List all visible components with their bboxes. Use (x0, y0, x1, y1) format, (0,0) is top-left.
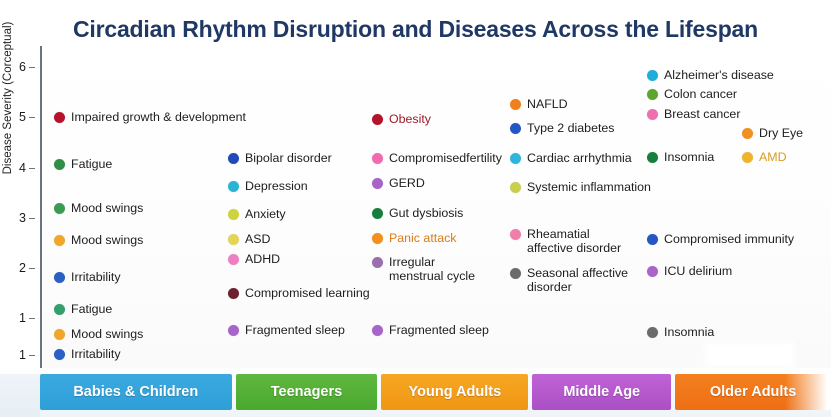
data-point-dot (372, 178, 383, 189)
data-point[interactable]: Panic attack (372, 231, 457, 245)
y-axis-tick-mark (29, 355, 35, 356)
category-band-older-adults[interactable]: Older Adults (675, 374, 831, 410)
image-artifact (705, 342, 795, 368)
data-point-dot (372, 208, 383, 219)
data-point[interactable]: Irregular menstrual cycle (372, 255, 484, 284)
data-point-dot (228, 209, 239, 220)
data-point-dot (510, 153, 521, 164)
data-point-dot (510, 99, 521, 110)
data-point[interactable]: Breast cancer (647, 107, 740, 121)
y-axis-tick: 2 (0, 261, 40, 275)
data-point-label: ICU delirium (664, 264, 732, 278)
data-point-dot (742, 152, 753, 163)
data-point[interactable]: Cardiac arrhythmia (510, 151, 632, 165)
data-point-dot (372, 153, 383, 164)
data-point[interactable]: Irritability (54, 347, 121, 361)
data-point-label: Fragmented sleep (245, 323, 345, 337)
data-point-dot (54, 235, 65, 246)
category-band-middle-age[interactable]: Middle Age (532, 374, 671, 410)
y-axis-tick-mark (29, 168, 35, 169)
data-point-dot (510, 268, 521, 279)
y-axis-tick-mark (29, 268, 35, 269)
data-point-label: Bipolar disorder (245, 151, 332, 165)
data-point-dot (647, 89, 658, 100)
data-point-dot (228, 254, 239, 265)
data-point[interactable]: Mood swings (54, 233, 143, 247)
data-point[interactable]: Alzheimer's disease (647, 68, 774, 82)
data-point-label: AMD (759, 150, 787, 164)
data-point[interactable]: Compromised immunity (647, 232, 794, 246)
data-point-label: ADHD (245, 252, 280, 266)
data-point-label: Rheamatial affective disorder (527, 227, 635, 256)
data-point-dot (228, 234, 239, 245)
data-point-dot (647, 109, 658, 120)
data-point-label: Compromised learning (245, 286, 370, 300)
data-point[interactable]: Fatigue (54, 302, 112, 316)
plot-area: Impaired growth & developmentFatigueMood… (40, 46, 831, 368)
data-point-label: Seasonal affective disorder (527, 266, 647, 295)
data-point-dot (647, 70, 658, 81)
data-point[interactable]: Compromisedfertility (372, 151, 502, 165)
data-point-dot (510, 182, 521, 193)
data-point-label: Cardiac arrhythmia (527, 151, 632, 165)
data-point-label: GERD (389, 176, 425, 190)
data-point[interactable]: ICU delirium (647, 264, 732, 278)
data-point-label: Mood swings (71, 327, 143, 341)
data-point-dot (372, 114, 383, 125)
data-point-dot (228, 153, 239, 164)
data-point-label: Compromised immunity (664, 232, 794, 246)
data-point-label: Dry Eye (759, 126, 803, 140)
data-point[interactable]: Fragmented sleep (372, 323, 489, 337)
y-axis-tick-label: 1 (0, 348, 26, 362)
data-point[interactable]: Depression (228, 179, 308, 193)
data-point-label: Systemic inflammation (527, 180, 651, 194)
y-axis-tick: 3 (0, 211, 40, 225)
data-point[interactable]: Mood swings (54, 327, 143, 341)
data-point-dot (228, 325, 239, 336)
data-point-label: Breast cancer (664, 107, 740, 121)
data-point[interactable]: Insomnia (647, 325, 714, 339)
data-point-label: Irritability (71, 270, 121, 284)
data-point[interactable]: Mood swings (54, 201, 143, 215)
data-point-dot (54, 304, 65, 315)
data-point-dot (647, 327, 658, 338)
data-point-dot (228, 288, 239, 299)
data-point[interactable]: Systemic inflammation (510, 180, 651, 194)
y-axis-tick-mark (29, 318, 35, 319)
data-point[interactable]: Impaired growth & development (54, 110, 246, 124)
data-point-dot (54, 329, 65, 340)
data-point-label: Panic attack (389, 231, 457, 245)
data-point-label: Impaired growth & development (71, 110, 246, 124)
data-point[interactable]: ASD (228, 232, 270, 246)
data-point-dot (510, 123, 521, 134)
data-point[interactable]: Irritability (54, 270, 121, 284)
data-point[interactable]: Fatigue (54, 157, 112, 171)
y-axis-tick: 1 (0, 348, 40, 362)
y-axis-tick-mark (29, 67, 35, 68)
data-point-dot (647, 266, 658, 277)
data-point[interactable]: Insomnia (647, 150, 714, 164)
data-point-dot (228, 181, 239, 192)
category-band-babies-children[interactable]: Babies & Children (40, 374, 232, 410)
y-axis-tick: 1 (0, 311, 40, 325)
data-point-label: Colon cancer (664, 87, 737, 101)
data-point-dot (54, 203, 65, 214)
data-point[interactable]: ADHD (228, 252, 280, 266)
data-point[interactable]: Rheamatial affective disorder (510, 227, 635, 256)
category-band-young-adults[interactable]: Young Adults (381, 374, 528, 410)
data-point-dot (54, 159, 65, 170)
data-point[interactable]: Compromised learning (228, 286, 370, 300)
data-point-label: Fatigue (71, 157, 112, 171)
data-point[interactable]: Seasonal affective disorder (510, 266, 647, 295)
category-band-teenagers[interactable]: Teenagers (236, 374, 378, 410)
data-point-dot (54, 112, 65, 123)
data-point[interactable]: Dry Eye (742, 126, 803, 140)
data-point-dot (647, 152, 658, 163)
data-point-label: Fragmented sleep (389, 323, 489, 337)
chart-root: Circadian Rhythm Disruption and Diseases… (0, 0, 831, 417)
data-point-label: Anxiety (245, 207, 286, 221)
data-point-label: Gut dysbiosis (389, 206, 463, 220)
data-point[interactable]: Fragmented sleep (228, 323, 345, 337)
data-point[interactable]: Obesity (372, 112, 431, 126)
lifespan-category-bands: Babies & ChildrenTeenagersYoung AdultsMi… (40, 374, 831, 410)
y-axis-tick-label: 3 (0, 211, 26, 225)
data-point-label: Irregular menstrual cycle (389, 255, 484, 284)
data-point[interactable]: Colon cancer (647, 87, 737, 101)
data-point[interactable]: Bipolar disorder (228, 151, 332, 165)
data-point[interactable]: Anxiety (228, 207, 286, 221)
data-point-label: Type 2 diabetes (527, 121, 614, 135)
data-point[interactable]: AMD (742, 150, 787, 164)
data-point-dot (647, 234, 658, 245)
y-axis-tick-mark (29, 218, 35, 219)
data-point-dot (742, 128, 753, 139)
data-point-label: Insomnia (664, 150, 714, 164)
chart-title: Circadian Rhythm Disruption and Diseases… (0, 16, 831, 43)
data-point-dot (54, 349, 65, 360)
data-point-dot (510, 229, 521, 240)
data-point[interactable]: Gut dysbiosis (372, 206, 463, 220)
y-axis-tick-label: 2 (0, 261, 26, 275)
data-point-label: ASD (245, 232, 270, 246)
data-point-label: Obesity (389, 112, 431, 126)
data-point[interactable]: NAFLD (510, 97, 568, 111)
data-point-dot (372, 325, 383, 336)
y-axis-tick-label: 1 (0, 311, 26, 325)
data-point-dot (372, 233, 383, 244)
data-point-label: Mood swings (71, 201, 143, 215)
data-point-dot (54, 272, 65, 283)
data-point-label: Insomnia (664, 325, 714, 339)
y-axis-tick-mark (29, 117, 35, 118)
data-point-label: Irritability (71, 347, 121, 361)
data-point-label: Compromisedfertility (389, 151, 502, 165)
data-point-label: NAFLD (527, 97, 568, 111)
data-point-label: Alzheimer's disease (664, 68, 774, 82)
data-point-label: Mood swings (71, 233, 143, 247)
data-point-label: Depression (245, 179, 308, 193)
axis-gutter (0, 374, 40, 417)
data-point[interactable]: Type 2 diabetes (510, 121, 614, 135)
data-point[interactable]: GERD (372, 176, 425, 190)
data-point-label: Fatigue (71, 302, 112, 316)
data-point-dot (372, 257, 383, 268)
y-axis-label: Disease Severity (Corceptual) (2, 0, 14, 198)
